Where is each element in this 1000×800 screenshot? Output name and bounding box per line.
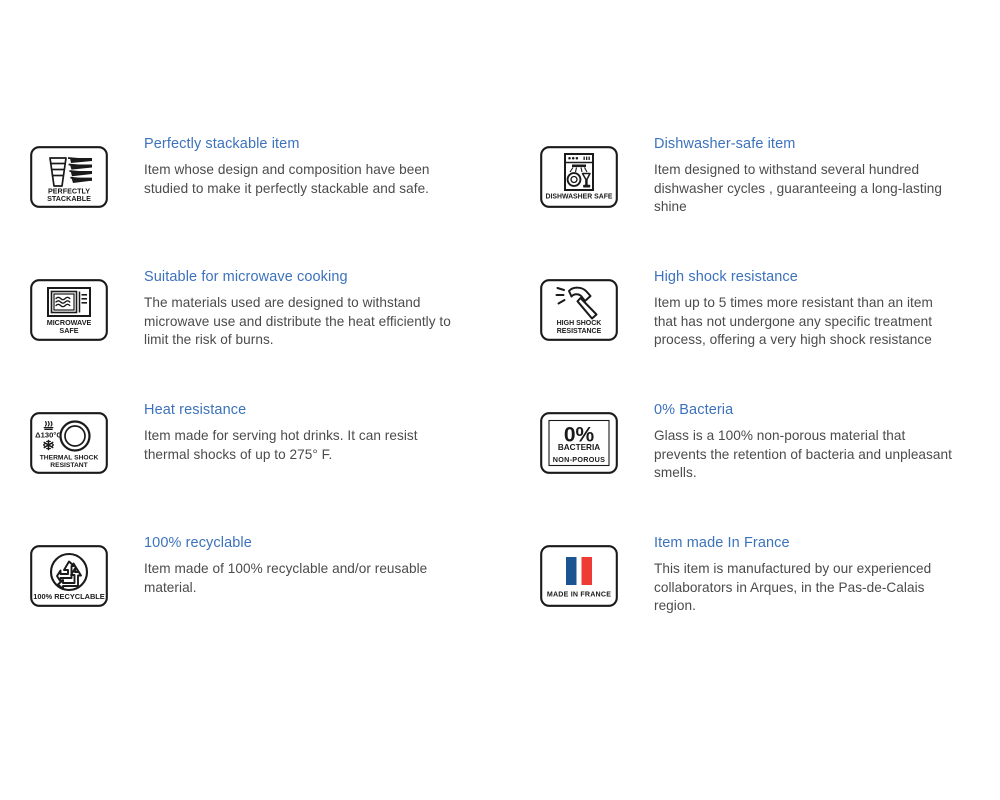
feature-description: Item made of 100% recyclable and/or reus…: [144, 560, 454, 597]
feature-description: Item made for serving hot drinks. It can…: [144, 427, 454, 464]
feature-text: Dishwasher-safe item Item designed to wi…: [654, 132, 959, 217]
feature-text: Perfectly stackable item Item whose desi…: [144, 132, 454, 198]
feature-description: The materials used are designed to withs…: [144, 294, 454, 350]
icon-caption-line2: NON-POROUS: [553, 455, 606, 464]
feature-title: 100% recyclable: [144, 533, 454, 553]
icon-caption-line1: THERMAL SHOCK: [40, 455, 99, 462]
icon-caption-line2: RESISTANCE: [557, 328, 602, 335]
feature-description: Item designed to withstand several hundr…: [654, 161, 959, 217]
icon-caption-line1: MADE IN FRANCE: [547, 591, 611, 599]
flag-red-band: [582, 557, 593, 585]
feature-dishwasher-safe: DISHWASHER SAFE Dishwasher-safe item Ite…: [510, 132, 970, 265]
feature-text: 0% Bacteria Glass is a 100% non-porous m…: [654, 398, 959, 483]
flag-blue-band: [566, 557, 577, 585]
icon-caption-line1: HIGH SHOCK: [557, 320, 602, 327]
feature-recyclable: 100% RECYCLABLE 100% recyclable Item mad…: [0, 531, 510, 664]
feature-perfectly-stackable: PERFECTLY STACKABLE Perfectly stackable …: [0, 132, 510, 265]
feature-microwave-safe: MICROWAVE SAFE Suitable for microwave co…: [0, 265, 510, 398]
feature-high-shock-resistance: HIGH SHOCK RESISTANCE High shock resista…: [510, 265, 970, 398]
feature-description: Item whose design and composition have b…: [144, 161, 454, 198]
made-in-france-icon: MADE IN FRANCE: [540, 545, 618, 607]
perfectly-stackable-icon: PERFECTLY STACKABLE: [30, 146, 108, 208]
feature-title: Item made In France: [654, 533, 959, 553]
icon-caption-line2: RESISTANT: [50, 462, 88, 469]
feature-title: 0% Bacteria: [654, 400, 959, 420]
thermal-shock-resistant-icon: Δ130°C THERMAL SHOCK RESISTANT: [30, 412, 108, 474]
feature-title: Dishwasher-safe item: [654, 134, 959, 154]
icon-caption-line2: STACKABLE: [47, 194, 91, 203]
icon-caption-line1: DISHWASHER SAFE: [546, 194, 613, 201]
feature-text: 100% recyclable Item made of 100% recycl…: [144, 531, 454, 597]
dishwasher-safe-icon: DISHWASHER SAFE: [540, 146, 618, 208]
feature-zero-bacteria: 0% BACTERIA NON-POROUS 0% Bacteria Glass…: [510, 398, 970, 531]
icon-caption-line1: 100% RECYCLABLE: [33, 592, 105, 601]
feature-title: Heat resistance: [144, 400, 454, 420]
features-grid: PERFECTLY STACKABLE Perfectly stackable …: [0, 132, 1000, 664]
microwave-safe-icon: MICROWAVE SAFE: [30, 279, 108, 341]
feature-description: Glass is a 100% non-porous material that…: [654, 427, 959, 483]
icon-caption-line1: BACTERIA: [558, 443, 600, 452]
feature-title: High shock resistance: [654, 267, 959, 287]
feature-text: High shock resistance Item up to 5 times…: [654, 265, 959, 350]
feature-text: Suitable for microwave cooking The mater…: [144, 265, 454, 350]
feature-title: Perfectly stackable item: [144, 134, 454, 154]
zero-percent-bacteria-icon: 0% BACTERIA NON-POROUS: [540, 412, 618, 474]
icon-temperature-label: Δ130°C: [35, 431, 62, 440]
feature-made-in-france: MADE IN FRANCE Item made In France This …: [510, 531, 970, 664]
feature-heat-resistance: Δ130°C THERMAL SHOCK RESISTANT: [0, 398, 510, 531]
icon-caption-line2: SAFE: [59, 326, 78, 335]
high-shock-resistance-icon: HIGH SHOCK RESISTANCE: [540, 279, 618, 341]
feature-description: This item is manufactured by our experie…: [654, 560, 959, 616]
feature-title: Suitable for microwave cooking: [144, 267, 454, 287]
feature-text: Heat resistance Item made for serving ho…: [144, 398, 454, 464]
recyclable-icon: 100% RECYCLABLE: [30, 545, 108, 607]
feature-text: Item made In France This item is manufac…: [654, 531, 959, 616]
feature-description: Item up to 5 times more resistant than a…: [654, 294, 959, 350]
